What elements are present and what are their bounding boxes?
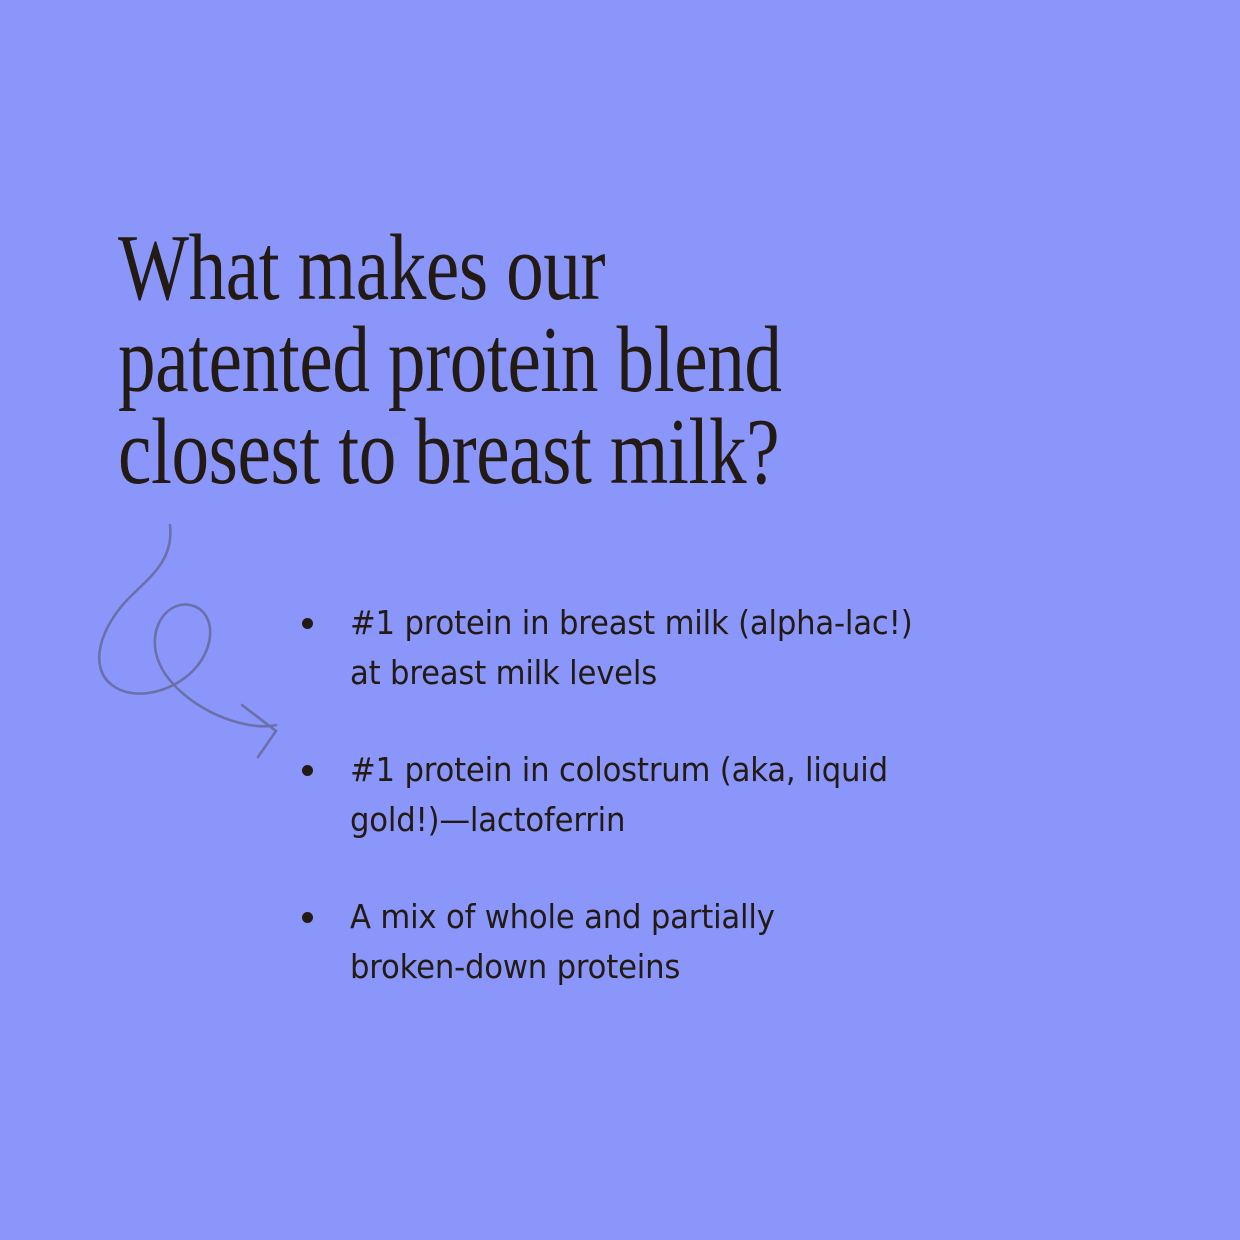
list-item: #1 protein in breast milk (alpha-lac!) a… [296, 598, 1056, 698]
list-item-label: #1 protein in colostrum (aka, liquid gol… [350, 745, 1007, 845]
curly-arrow-icon [90, 505, 310, 760]
bullet-marker-icon [302, 618, 313, 629]
page-title: What makes our patented protein blend cl… [118, 222, 886, 498]
list-item-label: #1 protein in breast milk (alpha-lac!) a… [350, 598, 1007, 698]
benefits-list: #1 protein in breast milk (alpha-lac!) a… [296, 598, 1056, 992]
list-item-label: A mix of whole and partially broken-down… [350, 892, 1007, 992]
list-item: #1 protein in colostrum (aka, liquid gol… [296, 745, 1056, 845]
list-item: A mix of whole and partially broken-down… [296, 892, 1056, 992]
bullet-marker-icon [302, 912, 313, 923]
promotional-slide: What makes our patented protein blend cl… [0, 0, 1240, 1240]
bullet-marker-icon [302, 765, 313, 776]
